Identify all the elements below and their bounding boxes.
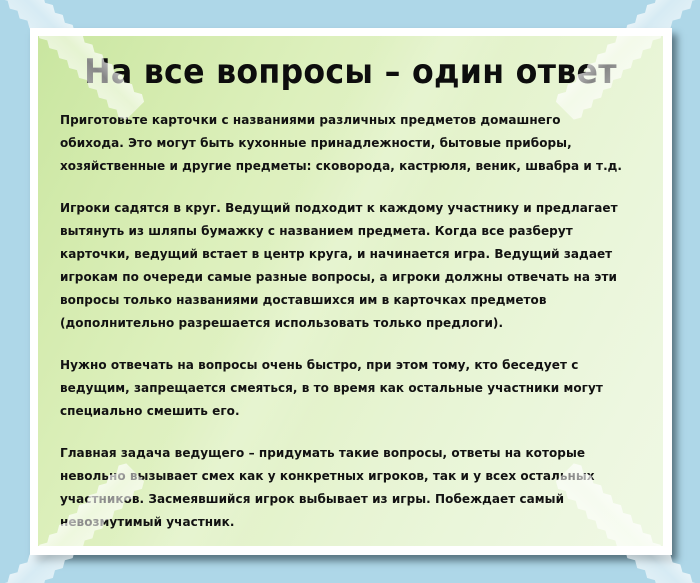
poster-canvas: На все вопросы – один ответ Приготовьте … (0, 0, 700, 583)
paragraph-4: Главная задача ведущего – придумать таки… (60, 441, 624, 533)
paragraph-2: Игроки садятся в круг. Ведущий подходит … (60, 196, 624, 334)
paper-card: На все вопросы – один ответ Приготовьте … (30, 28, 672, 555)
paragraph-1: Приготовьте карточки с названиями различ… (60, 108, 624, 177)
poster-body: Приготовьте карточки с названиями различ… (60, 108, 641, 533)
poster-sheet: На все вопросы – один ответ Приготовьте … (38, 36, 663, 546)
paragraph-3: Нужно отвечать на вопросы очень быстро, … (60, 353, 624, 422)
page-title: На все вопросы – один ответ (80, 52, 620, 92)
